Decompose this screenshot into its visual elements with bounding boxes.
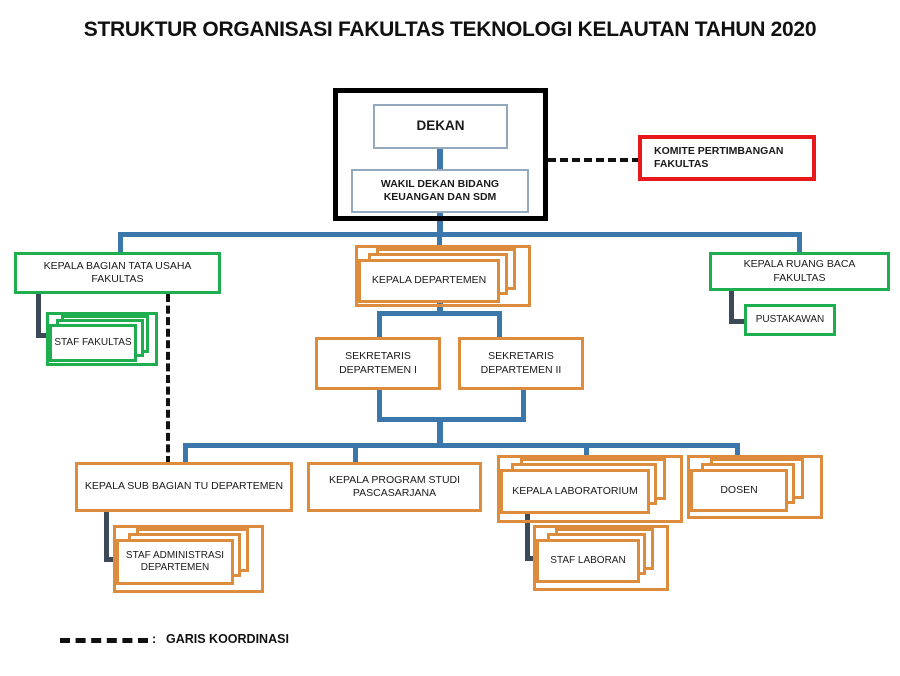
node-sekretaris-departemen-1[interactable]: SEKRETARIS DEPARTEMEN I	[315, 337, 441, 390]
node-kepala-departemen[interactable]: KEPALA DEPARTEMEN	[355, 245, 531, 307]
node-kepala-program-studi-label: KEPALA PROGRAM STUDI PASCASARJANA	[310, 474, 479, 500]
node-staf-administrasi-label: STAF ADMINISTRASI DEPARTEMEN	[119, 550, 231, 575]
node-kepala-program-studi-pascasarjana[interactable]: KEPALA PROGRAM STUDI PASCASARJANA	[307, 462, 482, 512]
connector-tata-usaha-to-staf-vertical	[36, 294, 41, 338]
connector-drop-sekretaris-1	[377, 311, 382, 339]
connector-bus-level4	[183, 443, 740, 448]
node-dosen[interactable]: DOSEN	[687, 455, 823, 519]
node-dekan[interactable]: DEKAN	[373, 104, 508, 149]
node-kepala-bagian-tata-usaha-label: KEPALA BAGIAN TATA USAHA FAKULTAS	[17, 260, 218, 286]
coordination-line-tata-usaha-to-sub-bagian-tu	[166, 294, 170, 464]
node-staf-administrasi-front: STAF ADMINISTRASI DEPARTEMEN	[116, 539, 234, 585]
connector-bus-level2	[118, 232, 802, 237]
legend-dashed-line-icon	[60, 638, 148, 643]
node-kepala-laboratorium-label: KEPALA LABORATORIUM	[512, 485, 637, 498]
node-kepala-sub-bagian-tu-label: KEPALA SUB BAGIAN TU DEPARTEMEN	[79, 480, 289, 493]
connector-drop-kepala-sub-bagian-tu	[183, 443, 188, 464]
node-kepala-departemen-front: KEPALA DEPARTEMEN	[358, 259, 500, 303]
connector-drop-kepala-program-studi	[353, 443, 358, 464]
node-dosen-label: DOSEN	[720, 484, 757, 497]
connector-drop-sekretaris-2	[497, 311, 502, 339]
connector-sub-bagian-tu-to-staf-vertical	[104, 512, 109, 562]
legend-separator: :	[152, 632, 156, 646]
coordination-line-dekan-komite	[548, 158, 640, 162]
node-kepala-departemen-label: KEPALA DEPARTEMEN	[372, 274, 486, 287]
connector-bus-sekretaris-top	[377, 311, 502, 316]
node-wakil-dekan[interactable]: WAKIL DEKAN BIDANG KEUANGAN DAN SDM	[351, 169, 529, 213]
node-staf-fakultas-front: STAF FAKULTAS	[49, 324, 137, 362]
node-komite-pertimbangan-fakultas[interactable]: KOMITE PERTIMBANGAN FAKULTAS	[638, 135, 816, 181]
node-kepala-ruang-baca-label: KEPALA RUANG BACA FAKULTAS	[712, 258, 887, 284]
node-staf-laboran-label: STAF LABORAN	[550, 555, 625, 568]
connector-riser-sekretaris-2	[521, 388, 526, 420]
connector-stem-level4	[437, 417, 443, 445]
connector-bus-sekretaris-bottom	[377, 417, 526, 422]
connector-drop-tata-usaha	[118, 232, 123, 254]
org-chart-diagram: STRUKTUR ORGANISASI FAKULTAS TEKNOLOGI K…	[0, 0, 900, 676]
node-dosen-front: DOSEN	[690, 469, 788, 512]
node-komite-label: KOMITE PERTIMBANGAN FAKULTAS	[642, 145, 812, 171]
node-staf-fakultas-label: STAF FAKULTAS	[54, 337, 131, 350]
node-staf-administrasi-departemen[interactable]: STAF ADMINISTRASI DEPARTEMEN	[113, 525, 264, 593]
node-wakil-dekan-label: WAKIL DEKAN BIDANG KEUANGAN DAN SDM	[353, 178, 527, 204]
node-kepala-sub-bagian-tu-departemen[interactable]: KEPALA SUB BAGIAN TU DEPARTEMEN	[75, 462, 293, 512]
node-kepala-bagian-tata-usaha-fakultas[interactable]: KEPALA BAGIAN TATA USAHA FAKULTAS	[14, 252, 221, 294]
node-sekretaris-departemen-1-label: SEKRETARIS DEPARTEMEN I	[318, 350, 438, 376]
node-kepala-laboratorium-front: KEPALA LABORATORIUM	[500, 469, 650, 514]
legend-label: GARIS KOORDINASI	[166, 632, 289, 646]
page-title: STRUKTUR ORGANISASI FAKULTAS TEKNOLOGI K…	[0, 18, 900, 42]
node-sekretaris-departemen-2-label: SEKRETARIS DEPARTEMEN II	[461, 350, 581, 376]
node-pustakawan[interactable]: PUSTAKAWAN	[744, 304, 836, 336]
connector-drop-ruang-baca	[797, 232, 802, 254]
node-staf-laboran-front: STAF LABORAN	[536, 539, 640, 583]
node-kepala-laboratorium[interactable]: KEPALA LABORATORIUM	[497, 455, 683, 523]
node-pustakawan-label: PUSTAKAWAN	[750, 314, 831, 327]
node-kepala-ruang-baca-fakultas[interactable]: KEPALA RUANG BACA FAKULTAS	[709, 252, 890, 291]
connector-riser-sekretaris-1	[377, 388, 382, 420]
node-dekan-label: DEKAN	[410, 118, 470, 135]
node-sekretaris-departemen-2[interactable]: SEKRETARIS DEPARTEMEN II	[458, 337, 584, 390]
node-staf-fakultas[interactable]: STAF FAKULTAS	[46, 312, 158, 366]
node-staf-laboran[interactable]: STAF LABORAN	[533, 525, 669, 591]
